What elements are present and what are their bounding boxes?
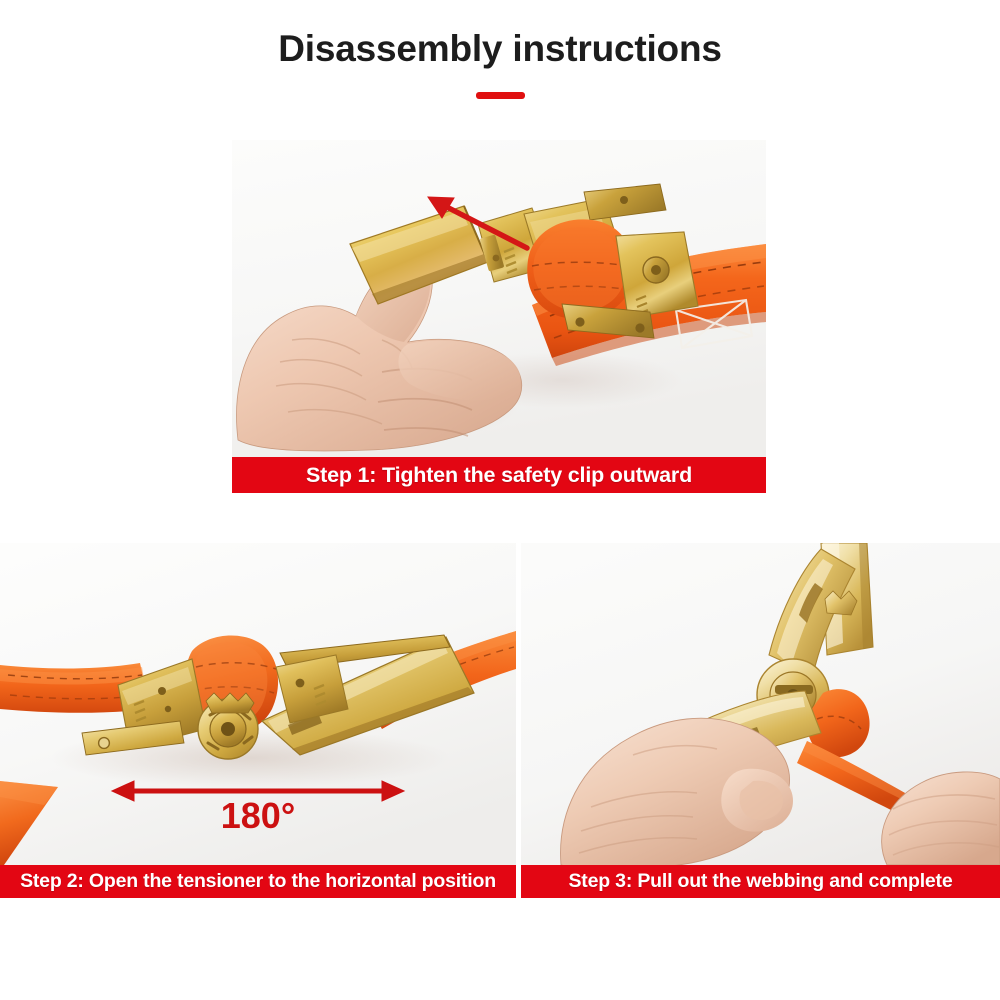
page-title: Disassembly instructions [0, 28, 1000, 70]
step-1-caption: Step 1: Tighten the safety clip outward [232, 457, 766, 493]
step-1-illustration [232, 140, 766, 457]
title-underline-rule [476, 92, 525, 99]
page-header: Disassembly instructions [0, 0, 1000, 130]
step-3-photo [521, 543, 1000, 865]
webbing-drum-roll [527, 219, 633, 319]
step-1-photo [232, 140, 766, 457]
step-3-caption: Step 3: Pull out the webbing and complet… [521, 865, 1000, 898]
step-3-illustration [521, 543, 1000, 865]
angle-dimension-label: 180° [108, 795, 408, 837]
ratchet-gear-cluster [198, 693, 258, 759]
step-2-caption: Step 2: Open the tensioner to the horizo… [0, 865, 516, 898]
